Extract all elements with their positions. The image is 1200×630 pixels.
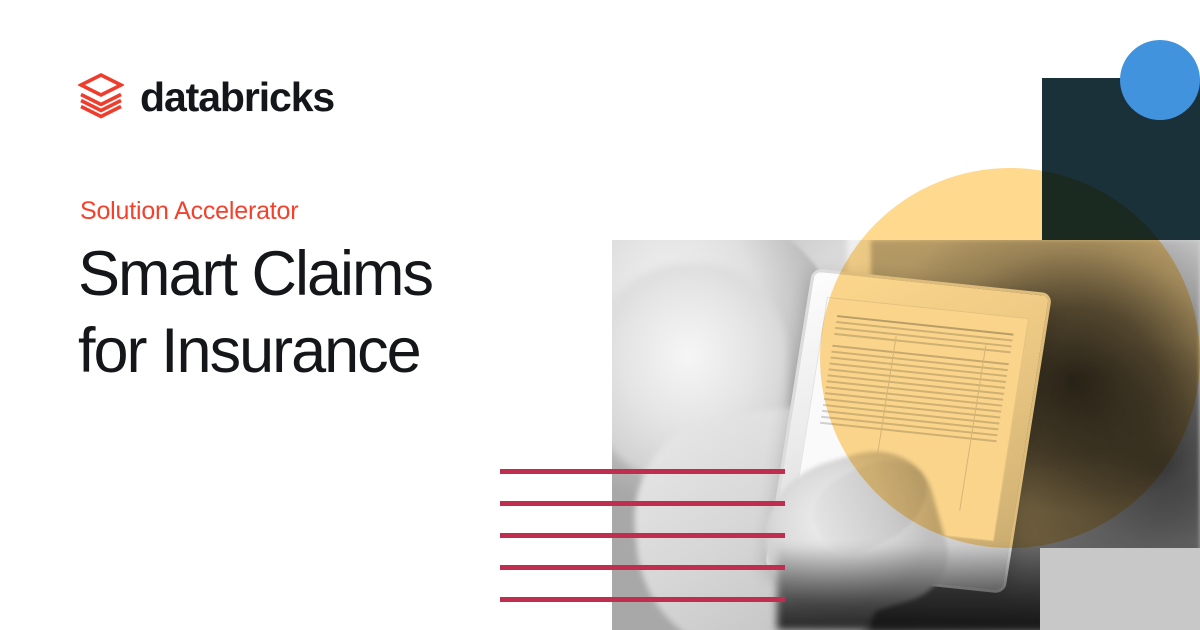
eyebrow-label: Solution Accelerator [80, 197, 298, 226]
decorative-rule-group [500, 469, 785, 602]
decorative-rule [500, 597, 785, 602]
blue-circle-shape [1120, 40, 1200, 120]
databricks-stacked-layers-logo-icon [78, 72, 124, 122]
decorative-rule [500, 565, 785, 570]
photo-bottom-shadow [777, 544, 1047, 630]
databricks-wordmark: databricks [140, 77, 334, 118]
banner-canvas: databricks Solution Accelerator Smart Cl… [0, 0, 1200, 630]
page-title: Smart Claims for Insurance [78, 236, 558, 390]
gray-rectangle-shape [1040, 548, 1200, 630]
page-title-line-1: Smart Claims [78, 236, 558, 313]
decorative-rule [500, 469, 785, 474]
page-title-line-2: for Insurance [78, 313, 558, 390]
yellow-circle-overlay-shape [820, 168, 1200, 548]
decorative-rule [500, 533, 785, 538]
databricks-logo[interactable]: databricks [78, 72, 334, 122]
decorative-rule [500, 501, 785, 506]
